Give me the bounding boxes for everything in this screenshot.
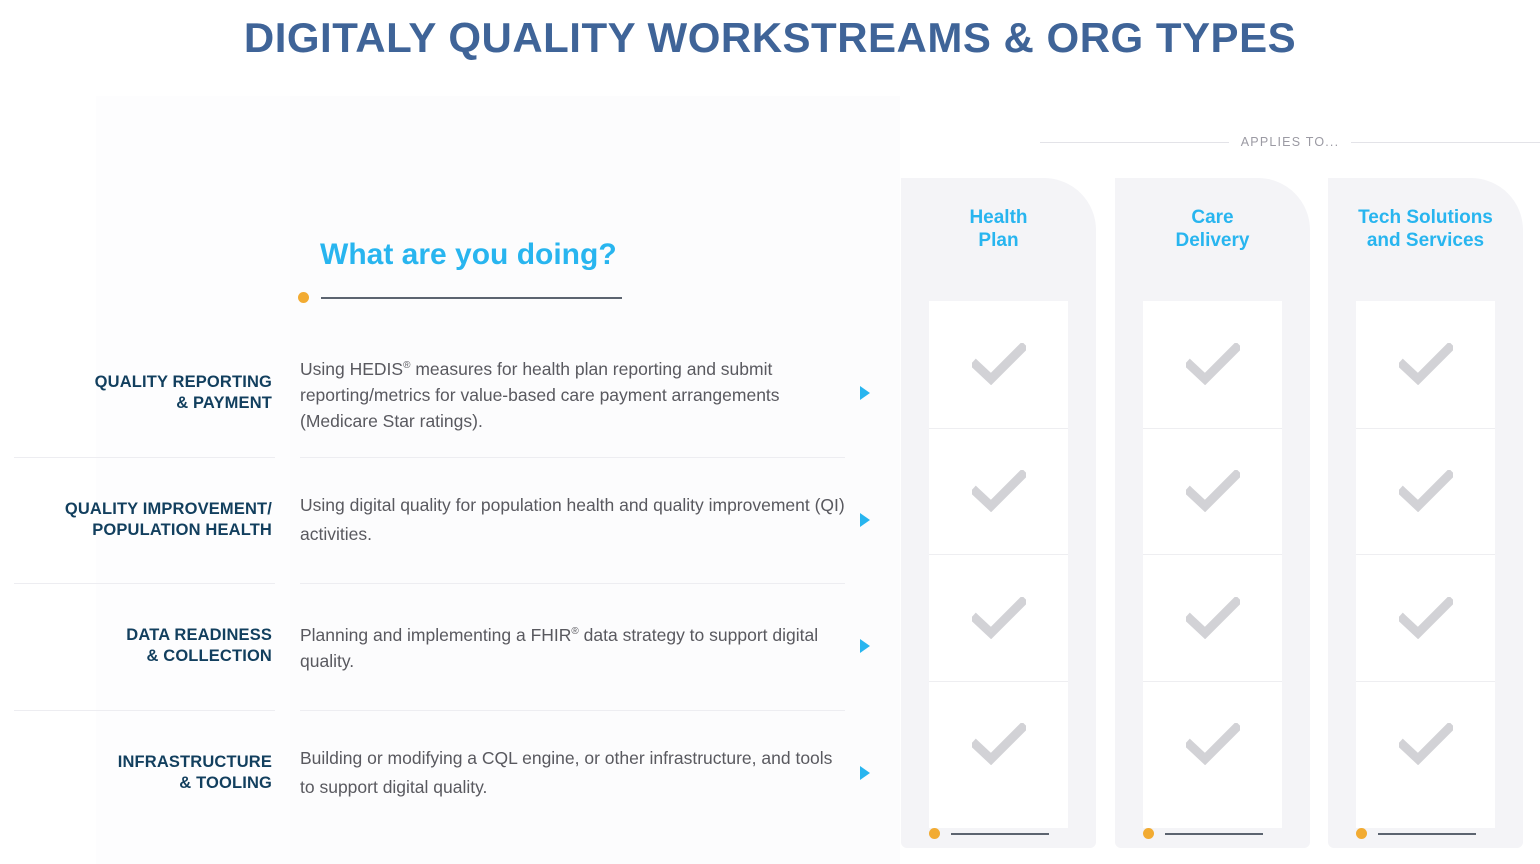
card-header: Tech Solutions and Services [1328, 178, 1523, 301]
applies-to-header: APPLIES TO... [1040, 135, 1540, 149]
row-divider-left [14, 457, 275, 458]
org-type-card-care-delivery[interactable]: Care Delivery [1115, 178, 1310, 848]
row-divider-right [300, 710, 845, 711]
check-cell[interactable] [929, 681, 1068, 808]
workstream-description: Building or modifying a CQL engine, or o… [300, 745, 845, 800]
check-cell[interactable] [1143, 554, 1282, 681]
card-check-column [1143, 301, 1282, 828]
slide-canvas: DIGITALY QUALITY WORKSTREAMS & ORG TYPES… [0, 0, 1540, 864]
registered-mark: ® [571, 626, 578, 637]
checkmark-icon [972, 597, 1026, 639]
card-check-column [1356, 301, 1495, 828]
checkmark-icon [1399, 343, 1453, 385]
row-divider-right [300, 583, 845, 584]
check-cell[interactable] [929, 301, 1068, 428]
desc-text-pre: Planning and implementing a FHIR [300, 625, 571, 645]
page-title: DIGITALY QUALITY WORKSTREAMS & ORG TYPES [0, 14, 1540, 62]
orange-dot-icon [929, 828, 940, 839]
workstream-label: INFRASTRUCTURE & TOOLING [0, 752, 272, 794]
checkmark-icon [1186, 343, 1240, 385]
card-title: Care Delivery [1176, 206, 1250, 252]
workstream-row[interactable]: QUALITY IMPROVEMENT/ POPULATION HEALTH U… [0, 457, 880, 584]
card-rule [951, 833, 1049, 835]
desc-text-pre: Building or modifying a CQL engine, or o… [300, 748, 832, 797]
check-cell[interactable] [1143, 301, 1282, 428]
workstream-label: DATA READINESS & COLLECTION [0, 625, 272, 667]
check-cell[interactable] [1356, 428, 1495, 555]
card-title: Health Plan [969, 206, 1027, 252]
checkmark-icon [1186, 470, 1240, 512]
triangle-right-icon[interactable] [860, 386, 870, 400]
card-header: Health Plan [901, 178, 1096, 301]
card-check-column [929, 301, 1068, 828]
checkmark-icon [1186, 723, 1240, 765]
desc-text-pre: Using digital quality for population hea… [300, 495, 845, 544]
checkmark-icon [972, 343, 1026, 385]
checkmark-icon [1186, 597, 1240, 639]
triangle-right-icon[interactable] [860, 513, 870, 527]
workstream-label: QUALITY REPORTING & PAYMENT [0, 372, 272, 414]
card-underline [929, 828, 1049, 839]
checkmark-icon [972, 723, 1026, 765]
card-underline [1143, 828, 1263, 839]
question-heading-row: What are you doing? [0, 228, 880, 330]
org-type-card-health-plan[interactable]: Health Plan [901, 178, 1096, 848]
orange-dot-icon [298, 292, 309, 303]
check-cell[interactable] [929, 428, 1068, 555]
orange-dot-icon [1143, 828, 1154, 839]
applies-to-rule-left [1040, 142, 1229, 143]
question-heading-rule [321, 297, 622, 299]
row-divider-left [14, 710, 275, 711]
card-rule [1378, 833, 1476, 835]
workstream-row[interactable]: QUALITY REPORTING & PAYMENT Using HEDIS®… [0, 330, 880, 457]
checkmark-icon [1399, 597, 1453, 639]
workstream-row[interactable]: DATA READINESS & COLLECTION Planning and… [0, 583, 880, 710]
check-cell[interactable] [1356, 681, 1495, 808]
row-divider-right [300, 457, 845, 458]
card-rule [1165, 833, 1263, 835]
row-divider-left [14, 583, 275, 584]
checkmark-icon [1399, 723, 1453, 765]
workstream-description: Using digital quality for population hea… [300, 492, 845, 547]
checkmark-icon [1399, 470, 1453, 512]
question-heading: What are you doing? [320, 238, 617, 272]
card-underline [1356, 828, 1476, 839]
question-heading-underline [298, 292, 622, 303]
triangle-right-icon[interactable] [860, 639, 870, 653]
check-cell[interactable] [1356, 301, 1495, 428]
card-title: Tech Solutions and Services [1358, 206, 1493, 252]
workstream-description: Planning and implementing a FHIR® data s… [300, 619, 845, 674]
check-cell[interactable] [1143, 428, 1282, 555]
checkmark-icon [972, 470, 1026, 512]
orange-dot-icon [1356, 828, 1367, 839]
workstream-description: Using HEDIS® measures for health plan re… [300, 353, 845, 434]
check-cell[interactable] [1356, 554, 1495, 681]
desc-text-pre: Using HEDIS [300, 359, 403, 379]
check-cell[interactable] [1143, 681, 1282, 808]
card-header: Care Delivery [1115, 178, 1310, 301]
check-cell[interactable] [929, 554, 1068, 681]
workstream-label: QUALITY IMPROVEMENT/ POPULATION HEALTH [0, 499, 272, 541]
applies-to-rule-right [1351, 142, 1540, 143]
org-type-card-tech-solutions-and-services[interactable]: Tech Solutions and Services [1328, 178, 1523, 848]
triangle-right-icon[interactable] [860, 766, 870, 780]
applies-to-label: APPLIES TO... [1241, 135, 1340, 149]
workstream-row[interactable]: INFRASTRUCTURE & TOOLING Building or mod… [0, 710, 880, 837]
workstream-rows: What are you doing? QUALITY REPORTING & … [0, 228, 880, 836]
